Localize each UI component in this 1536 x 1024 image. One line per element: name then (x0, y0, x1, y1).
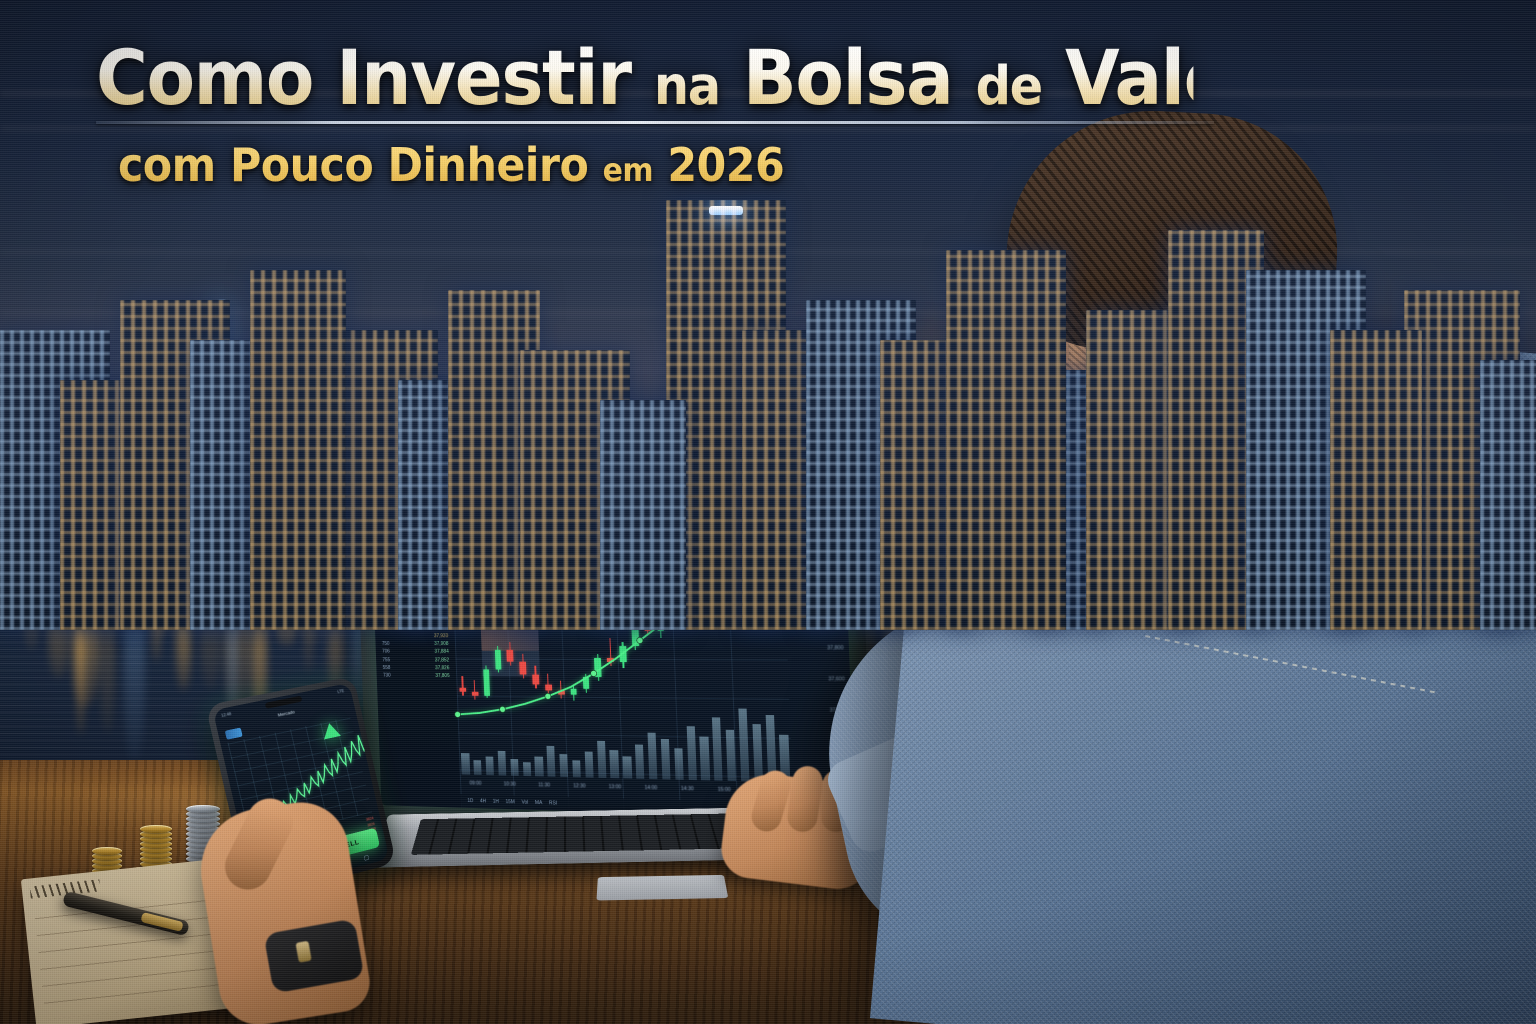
orderbook-price: 37,826 (435, 665, 449, 671)
orderbook-row[interactable]: 75037,908 (380, 640, 451, 648)
phone-app-logo (225, 728, 243, 740)
title-block: Como Investir na Bolsa de Valores com Po… (96, 42, 1276, 192)
x-axis-label: 11:30 (538, 782, 550, 788)
x-axis-label: 09:00 (469, 781, 481, 787)
orderbook-row[interactable]: 37,930 (380, 632, 451, 640)
timeframe-button[interactable]: 1D (467, 798, 473, 804)
x-axis-label: 10:30 (504, 781, 516, 787)
title-part-3: Valores (1065, 33, 1351, 122)
orderbook-price: 37,884 (434, 649, 448, 655)
orderbook-qty: 750 (382, 641, 390, 647)
building (600, 400, 686, 630)
orderbook-row[interactable]: 73037,806 (381, 672, 452, 681)
y-axis-label: 37,600 (828, 676, 845, 682)
timeframe-button[interactable]: 1H (493, 799, 499, 805)
recents-icon[interactable]: ▢ (363, 854, 370, 862)
title-part-na: na (654, 55, 720, 117)
building (946, 250, 1066, 630)
coin (140, 825, 172, 833)
x-axis-label: 12:30 (573, 783, 585, 789)
building (1480, 360, 1536, 630)
timeframe-button[interactable]: Vol (521, 800, 528, 806)
building (1330, 330, 1422, 630)
page-title: Como Investir na Bolsa de Valores (96, 42, 1193, 114)
orderbook-price: 37,908 (434, 641, 448, 647)
building (250, 270, 346, 630)
timeframe-button[interactable]: 4H (480, 798, 486, 804)
orderbook-row[interactable]: 70637,884 (380, 648, 451, 656)
tower-crown (709, 206, 743, 215)
orderbook-qty: 706 (382, 649, 390, 655)
page-subtitle: com Pouco Dinheiro em 2026 (118, 138, 1195, 192)
y-axis-label: 37,800 (827, 645, 844, 651)
title-part-1: Como Investir (96, 33, 631, 122)
phone-clock: 12:48 (221, 711, 232, 718)
phone-network-icon: LTE (337, 688, 345, 694)
orderbook-qty: 730 (383, 673, 391, 679)
subtitle-part-1: com Pouco Dinheiro (118, 138, 588, 192)
watch-buckle (295, 941, 311, 963)
timeframe-button[interactable]: MA (535, 800, 542, 806)
timeframe-button[interactable]: 15M (505, 799, 515, 805)
banner-image: 2026 Dashboard Markets Portfolio Accou (0, 0, 1536, 1024)
coin (186, 805, 220, 813)
orderbook-price: 37,930 (434, 633, 448, 639)
x-axis-label: 13:00 (609, 784, 622, 790)
timeframe-button[interactable]: RSI (549, 800, 557, 806)
title-part-2: Bolsa (743, 33, 952, 122)
subtitle-part-em: em (603, 151, 653, 189)
laptop-trackpad[interactable] (596, 875, 728, 901)
orderbook-qty: 558 (383, 665, 391, 671)
orderbook-price: 37,852 (435, 657, 449, 663)
x-axis-label: 14:30 (681, 786, 694, 792)
subtitle-year: 2026 (667, 138, 784, 192)
orderbook-qty: 755 (382, 657, 390, 663)
x-axis-label: 15:00 (718, 787, 731, 793)
orderbook-price: 37,806 (435, 673, 449, 679)
x-axis-label: 14:00 (645, 785, 658, 791)
orderbook-row[interactable]: 75537,852 (381, 656, 452, 664)
title-part-de: de (976, 55, 1042, 117)
coin (92, 847, 122, 855)
